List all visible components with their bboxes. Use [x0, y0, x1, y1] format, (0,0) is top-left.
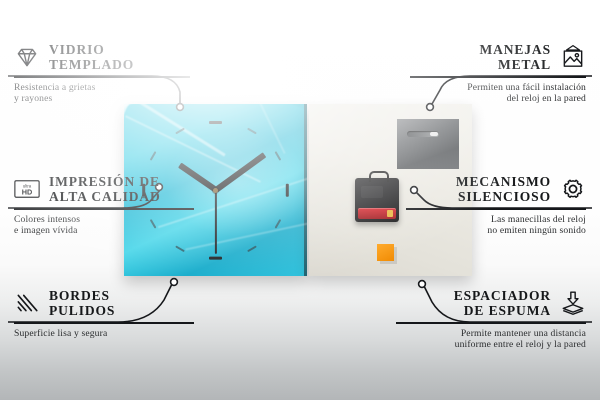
feature-manejas-metal: MANEJAS METAL Permiten una fácil instala…: [410, 42, 586, 105]
polished-edges-icon: [14, 290, 40, 316]
feature-title-line2: DE ESPUMA: [454, 303, 551, 318]
diamond-icon: [14, 44, 40, 70]
feature-impresion-alta-calidad: ultra HD IMPRESIÓN DE ALTA CALIDAD Color…: [14, 174, 194, 237]
feature-title-line1: MANEJAS: [479, 42, 551, 57]
gear-icon: [560, 176, 586, 202]
feature-desc-line2: del reloj en la pared: [410, 93, 586, 105]
feature-desc-line2: e imagen vívida: [14, 225, 194, 237]
feature-title-line2: METAL: [479, 57, 551, 72]
feature-bordes-pulidos: BORDES PULIDOS Superficie lisa y segura: [14, 288, 194, 339]
feature-desc-line1: Permiten una fácil instalación: [410, 82, 586, 94]
svg-text:HD: HD: [22, 188, 33, 197]
feature-title-line1: BORDES: [49, 288, 115, 303]
feature-desc-line2: y rayones: [14, 93, 190, 105]
feature-desc-line1: Colores intensos: [14, 214, 194, 226]
feature-desc-line1: Resistencia a grietas: [14, 82, 190, 94]
poster-canvas: VIDRIO TEMPLADO Resistencia a grietas y …: [0, 0, 600, 400]
feature-espaciador-espuma: ESPACIADOR DE ESPUMA Permite mantener un…: [396, 288, 586, 351]
clock-center-pivot: [213, 188, 218, 193]
feature-divider: [14, 76, 190, 78]
feature-title-line2: PULIDOS: [49, 303, 115, 318]
feature-title-line1: MECANISMO: [456, 174, 551, 189]
feature-desc-line1: Permite mantener una distancia: [396, 328, 586, 340]
quartz-mechanism: [355, 178, 399, 222]
feature-desc-line2: uniforme entre el reloj y la pared: [396, 339, 586, 351]
feature-title-line1: IMPRESIÓN DE: [49, 174, 161, 189]
feature-divider: [14, 322, 194, 324]
feature-title-line2: ALTA CALIDAD: [49, 189, 161, 204]
feature-desc-line2: no emiten ningún sonido: [406, 225, 586, 237]
feature-vidrio-templado: VIDRIO TEMPLADO Resistencia a grietas y …: [14, 42, 190, 105]
feature-divider: [410, 76, 586, 78]
battery: [358, 208, 396, 219]
feature-title-line1: VIDRIO: [49, 42, 134, 57]
feature-title-line2: TEMPLADO: [49, 57, 134, 72]
metal-hanger-plate: [397, 119, 459, 169]
feature-divider: [14, 208, 194, 210]
feature-divider: [406, 208, 586, 210]
picture-hanger-icon: [560, 44, 586, 70]
feature-title-line2: SILENCIOSO: [456, 189, 551, 204]
foam-spacer-icon: [560, 290, 586, 316]
feature-desc-line1: Las manecillas del reloj: [406, 214, 586, 226]
ultra-hd-icon: ultra HD: [14, 176, 40, 202]
feature-title-line1: ESPACIADOR: [454, 288, 551, 303]
feature-divider: [396, 322, 586, 324]
feature-mecanismo-silencioso: MECANISMO SILENCIOSO Las manecillas del …: [406, 174, 586, 237]
feature-desc-line1: Superficie lisa y segura: [14, 328, 194, 340]
foam-spacer-pad: [377, 244, 394, 261]
